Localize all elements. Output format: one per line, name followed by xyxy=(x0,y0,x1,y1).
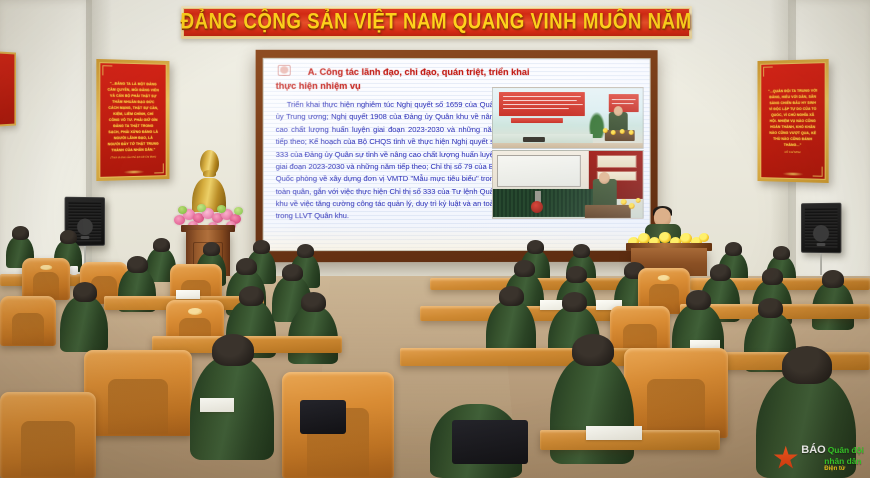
slide-photo-top xyxy=(492,87,644,149)
watermark-brand: BÁO xyxy=(801,445,825,456)
screen-glare xyxy=(264,224,650,250)
poster-right-quote: "...QUÂN ĐỘI TA TRUNG VỚI ĐẢNG, HIẾU VỚI… xyxy=(765,87,821,148)
tablet-device xyxy=(200,398,234,412)
audience-person xyxy=(60,296,108,352)
poster-left-attribution: (Trích di chúc của Chủ tịch Hồ Chí Minh) xyxy=(111,156,156,160)
shoulder-bag xyxy=(452,420,528,464)
watermark-line-dt: Điện tử xyxy=(824,466,864,472)
watermark-line-qd: Quân đội xyxy=(828,446,864,454)
audience-chair xyxy=(22,258,70,300)
tea-cup xyxy=(70,266,78,275)
photo-officer-head xyxy=(599,172,610,184)
projection-screen-frame: A. Công tác lãnh đạo, chỉ đạo, quán triệ… xyxy=(256,50,658,262)
shoulder-bag xyxy=(300,400,346,434)
slide-body-text: Triển khai thực hiện nghiêm túc Nghị quy… xyxy=(276,99,498,223)
audience-chair xyxy=(624,348,728,438)
audience-person xyxy=(288,306,338,364)
ho-chi-minh-bust-head xyxy=(200,150,219,175)
watermark-logo: BÁO Quân đội nhân dân Điện tử xyxy=(773,445,864,472)
photo-officer-podium xyxy=(585,205,631,219)
hall-banner: ĐẢNG CỘNG SẢN VIỆT NAM QUANG VINH MUÔN N… xyxy=(181,6,692,39)
red-star-icon xyxy=(773,446,798,471)
wall-poster-left: "...ĐẢNG TA LÀ MỘT ĐẢNG CẦM QUYỀN, MỖI Đ… xyxy=(96,59,169,181)
speaker-port xyxy=(81,236,90,239)
conference-hall-photo: ĐẢNG CỘNG SẢN VIỆT NAM QUANG VINH MUÔN N… xyxy=(0,0,870,478)
poster-left-quote: "...ĐẢNG TA LÀ MỘT ĐẢNG CẦM QUYỀN, MỖI Đ… xyxy=(104,80,161,153)
speaker-port xyxy=(817,243,826,246)
poster-left-ornament xyxy=(123,170,144,175)
photo-subbanner xyxy=(511,118,563,123)
watermark-line-nd: nhân dân xyxy=(824,457,864,465)
watermark-text: BÁO Quân đội nhân dân Điện tử xyxy=(801,445,864,472)
poster-right-ornament xyxy=(782,172,803,177)
slide-photo-bottom xyxy=(492,150,644,219)
document-paper xyxy=(176,290,200,299)
slide-body-content: Triển khai thực hiện nghiêm túc Nghị quy… xyxy=(276,100,498,221)
poster-right-panel: "...QUÂN ĐỘI TA TRUNG VỚI ĐẢNG, HIẾU VỚI… xyxy=(760,62,825,180)
audience-chair xyxy=(0,392,96,478)
speaker-right-pole xyxy=(820,253,822,275)
audience-chair xyxy=(0,296,56,346)
banner-panel: ĐẢNG CỘNG SẢN VIỆT NAM QUANG VINH MUÔN N… xyxy=(183,8,690,37)
poster-left-panel: "...ĐẢNG TA LÀ MỘT ĐẢNG CẦM QUYỀN, MỖI Đ… xyxy=(99,62,166,178)
photo-inner-screen xyxy=(497,155,581,187)
photo-card-upper xyxy=(597,155,637,168)
audience-chair xyxy=(84,350,192,436)
slide-title-line2: thực hiện nhiệm vụ xyxy=(276,81,361,91)
poster-edge-partial xyxy=(0,51,16,126)
wall-poster-right: "...QUÂN ĐỘI TA TRUNG VỚI ĐẢNG, HIẾU VỚI… xyxy=(758,59,829,183)
banner-text: ĐẢNG CỘNG SẢN VIỆT NAM QUANG VINH MUÔN N… xyxy=(181,10,692,36)
projection-screen: A. Công tác lãnh đạo, chỉ đạo, quán triệ… xyxy=(263,58,651,251)
photo-person-head xyxy=(614,106,623,116)
notebook xyxy=(586,426,642,440)
poster-right-attribution: HỒ CHÍ MINH xyxy=(785,151,801,154)
photo-dark-backdrop xyxy=(493,189,593,217)
slide-photo-group xyxy=(492,87,644,219)
wall-speaker-right xyxy=(801,203,841,254)
slide-title-line1: A. Công tác lãnh đạo, chỉ đạo, quán triệ… xyxy=(308,67,530,77)
